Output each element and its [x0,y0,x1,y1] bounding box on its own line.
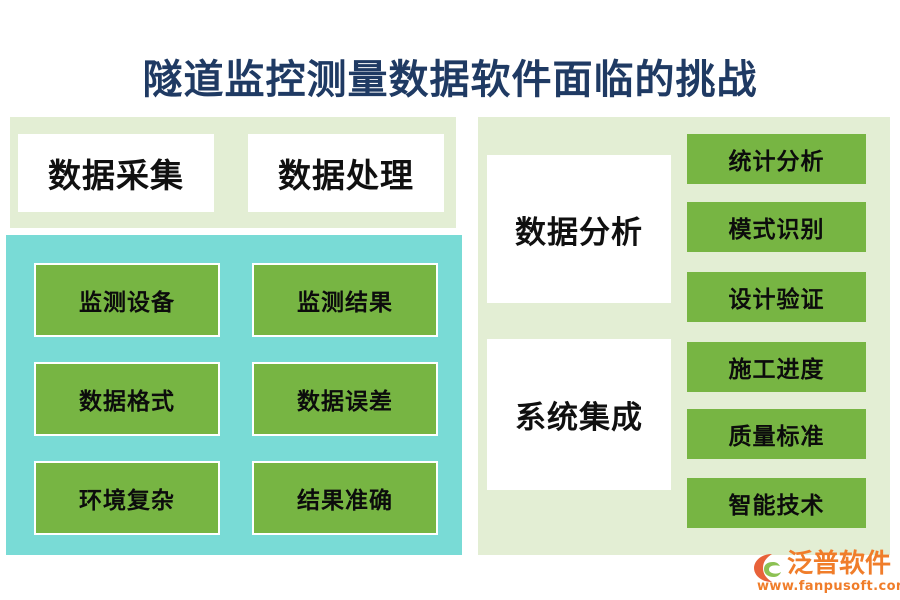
page-title: 隧道监控测量数据软件面临的挑战 [0,56,900,104]
box-quality-standard[interactable]: 质量标准 [687,409,866,459]
box-accurate-result[interactable]: 结果准确 [252,461,438,535]
card-data-processing[interactable]: 数据处理 [248,134,444,212]
box-complex-environment[interactable]: 环境复杂 [34,461,220,535]
logo-website-url: www.fanpusoft.com [757,579,900,594]
slide-canvas: 隧道监控测量数据软件面临的挑战 数据采集 数据处理 监测设备 监测结果 数据格式… [0,0,900,600]
box-monitoring-result[interactable]: 监测结果 [252,263,438,337]
box-statistical-analysis[interactable]: 统计分析 [687,134,866,184]
box-monitoring-device[interactable]: 监测设备 [34,263,220,337]
box-construction-progress[interactable]: 施工进度 [687,342,866,392]
card-data-collection[interactable]: 数据采集 [18,134,214,212]
box-pattern-recognition[interactable]: 模式识别 [687,202,866,252]
card-system-integration[interactable]: 系统集成 [487,339,671,490]
brand-logo: 泛普软件 www.fanpusoft.com [753,551,895,595]
box-design-verification[interactable]: 设计验证 [687,272,866,322]
box-smart-technology[interactable]: 智能技术 [687,478,866,528]
card-data-analysis[interactable]: 数据分析 [487,155,671,303]
box-data-format[interactable]: 数据格式 [34,362,220,436]
logo-brand-name: 泛普软件 [787,549,891,579]
box-data-error[interactable]: 数据误差 [252,362,438,436]
